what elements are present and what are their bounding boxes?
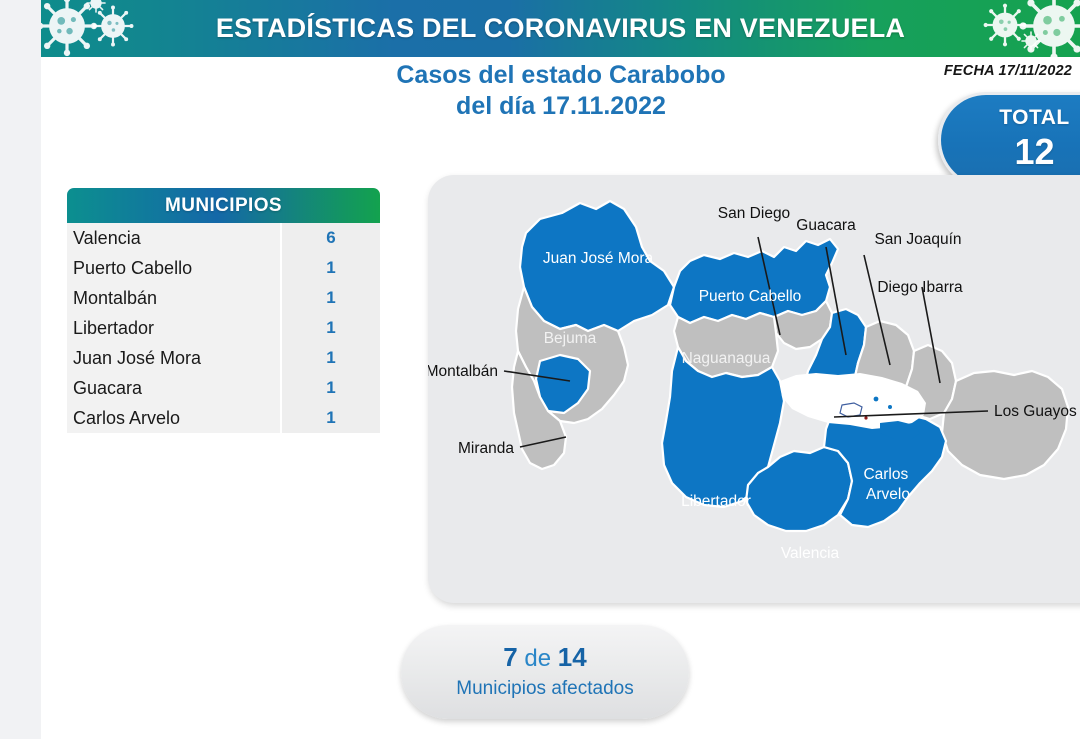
total-label: TOTAL xyxy=(941,106,1080,130)
fecha-label: FECHA 17/11/2022 xyxy=(944,63,1072,79)
map-callout-guacara: Guacara xyxy=(796,217,856,234)
table-row: Carlos Arvelo 1 xyxy=(67,404,380,434)
total-badge: TOTAL 12 xyxy=(938,92,1080,188)
total-municipios-count: 14 xyxy=(558,642,587,672)
map-label-libertador: Libertador xyxy=(681,493,751,510)
page-title: ESTADÍSTICAS DEL CORONAVIRUS EN VENEZUEL… xyxy=(41,0,1080,57)
map-label-valencia: Valencia xyxy=(781,545,840,562)
map-callout-san-joaquin: San Joaquín xyxy=(874,231,961,248)
map-lake-islet xyxy=(874,397,879,402)
subtitle-line-1: Casos del estado Carabobo xyxy=(396,61,725,89)
carabobo-map: Juan José Mora Puerto Cabello Bejuma Nag… xyxy=(428,175,1080,603)
affected-connector: de xyxy=(518,645,558,672)
municipio-name: Libertador xyxy=(67,313,280,343)
municipio-count: 1 xyxy=(280,343,380,373)
municipio-count: 1 xyxy=(280,373,380,403)
map-callout-montalban: Montalbán xyxy=(428,363,498,380)
table-row: Valencia 6 xyxy=(67,224,380,254)
header-banner: ESTADÍSTICAS DEL CORONAVIRUS EN VENEZUEL… xyxy=(41,0,1080,57)
affected-caption: Municipios afectados xyxy=(401,677,689,701)
municipio-name: Juan José Mora xyxy=(67,343,280,373)
map-region-eastern-plain[interactable] xyxy=(942,371,1068,479)
subtitle-line-2: del día 17.11.2022 xyxy=(221,91,901,122)
table-row: Montalbán 1 xyxy=(67,284,380,314)
map-region-puerto-cabello[interactable] xyxy=(670,239,838,323)
map-label-bejuma: Bejuma xyxy=(544,330,597,347)
map-label-naguanagua: Naguanagua xyxy=(682,350,771,367)
municipio-count: 1 xyxy=(280,403,380,433)
table-row: Puerto Cabello 1 xyxy=(67,254,380,284)
map-callout-los-guayos: Los Guayos xyxy=(994,403,1077,420)
map-lake-islet xyxy=(864,416,867,419)
report-page: ESTADÍSTICAS DEL CORONAVIRUS EN VENEZUEL… xyxy=(41,0,1080,739)
municipio-name: Carlos Arvelo xyxy=(67,403,280,433)
municipio-name: Guacara xyxy=(67,373,280,403)
municipio-count: 1 xyxy=(280,253,380,283)
municipio-name: Montalbán xyxy=(67,283,280,313)
carabobo-map-card: Juan José Mora Puerto Cabello Bejuma Nag… xyxy=(428,175,1080,603)
report-subtitle: Casos del estado Carabobo del día 17.11.… xyxy=(221,60,901,122)
affected-ratio: 7 de 14 xyxy=(401,643,689,673)
map-label-puerto-cabello: Puerto Cabello xyxy=(699,288,802,305)
map-callout-san-diego: San Diego xyxy=(718,205,790,222)
municipio-count: 1 xyxy=(280,283,380,313)
map-label-carlos-arvelo-l2: Arvelo xyxy=(866,486,910,503)
map-lake-islet xyxy=(888,405,892,409)
map-label-juan-jose-mora: Juan José Mora xyxy=(543,250,654,267)
table-row: Guacara 1 xyxy=(67,374,380,404)
municipio-count: 6 xyxy=(280,223,380,253)
affected-count: 7 xyxy=(503,642,517,672)
map-callout-diego-ibarra: Diego Ibarra xyxy=(877,279,963,296)
map-region-los-guayos[interactable] xyxy=(840,403,862,417)
municipio-count: 1 xyxy=(280,313,380,343)
municipio-name: Puerto Cabello xyxy=(67,253,280,283)
map-callout-miranda: Miranda xyxy=(458,440,514,457)
municipios-table: MUNICIPIOS Valencia 6 Puerto Cabello 1 M… xyxy=(67,188,380,434)
map-label-carlos-arvelo-l1: Carlos xyxy=(863,466,908,483)
table-row: Libertador 1 xyxy=(67,314,380,344)
municipio-name: Valencia xyxy=(67,223,280,253)
table-row: Juan José Mora 1 xyxy=(67,344,380,374)
table-header: MUNICIPIOS xyxy=(67,188,380,224)
affected-summary-badge: 7 de 14 Municipios afectados xyxy=(401,625,689,719)
total-value: 12 xyxy=(941,132,1080,172)
